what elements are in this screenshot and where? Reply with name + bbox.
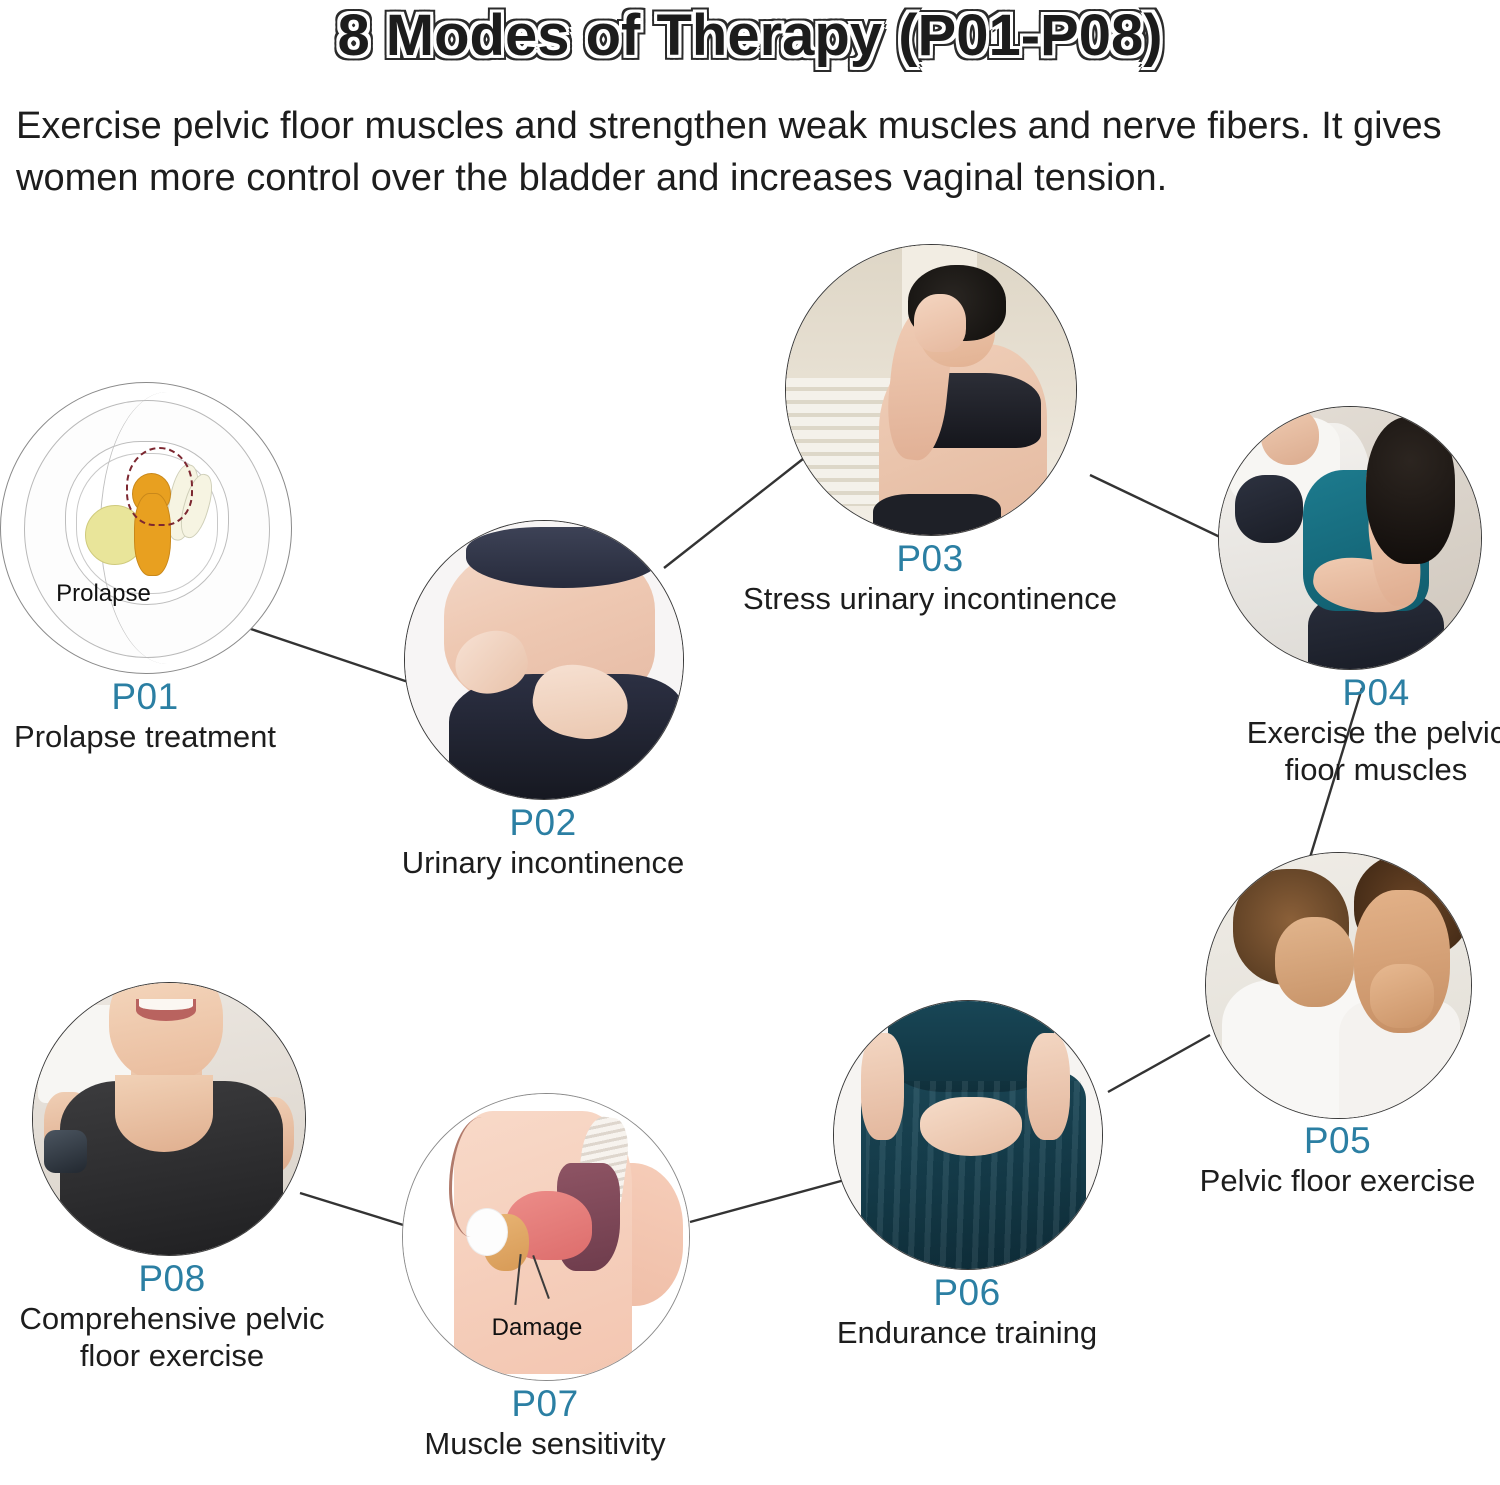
mode-image-p05 xyxy=(1205,852,1472,1119)
p06-clasped-hands xyxy=(920,1097,1022,1156)
p03-hand-on-forehead xyxy=(914,294,966,352)
mode-image-p04 xyxy=(1218,406,1482,670)
mode-image-p01: Prolapse xyxy=(0,382,292,674)
mode-desc-p04: Exercise the pelvic fioor muscles xyxy=(1246,714,1500,788)
p05-baby-face xyxy=(1275,917,1355,1007)
p08-teeth xyxy=(139,999,193,1010)
p02-sports-top xyxy=(466,527,661,588)
mode-caption-p07: P07 Muscle sensitivity xyxy=(364,1383,726,1462)
p03-shorts xyxy=(873,494,1001,536)
damage-image-label: Damage xyxy=(492,1314,583,1342)
mode-code-p01: P01 xyxy=(0,676,318,718)
mode-desc-p01: Prolapse treatment xyxy=(0,718,318,755)
p08-armband-device xyxy=(44,1130,88,1174)
mode-code-p03: P03 xyxy=(705,538,1155,580)
prolapse-dashed-outline xyxy=(126,447,194,526)
p05-baby-hand xyxy=(1370,964,1434,1028)
connector-p05-p06 xyxy=(1108,1035,1210,1092)
mode-desc-p08: Comprehensive pelvic floor exercise xyxy=(12,1300,332,1374)
mode-caption-p01: P01 Prolapse treatment xyxy=(0,676,318,755)
connector-p07-p08 xyxy=(300,1193,413,1228)
mode-desc-p05: Pelvic floor exercise xyxy=(1155,1162,1500,1199)
mode-image-p02 xyxy=(404,520,684,800)
prolapse-image-label: Prolapse xyxy=(56,580,151,608)
mode-code-p04: P04 xyxy=(1246,672,1500,714)
mode-desc-p06: Endurance training xyxy=(793,1314,1141,1351)
mode-code-p06: P06 xyxy=(793,1272,1141,1314)
p08-face xyxy=(109,982,223,1081)
p08-neckline-skin xyxy=(115,1075,213,1151)
p06-right-arm xyxy=(1027,1033,1070,1140)
mode-caption-p04: P04 Exercise the pelvic fioor muscles xyxy=(1246,672,1500,788)
mode-desc-p03: Stress urinary incontinence xyxy=(705,580,1155,617)
p04-hair xyxy=(1366,417,1455,564)
mode-caption-p05: P05 Pelvic floor exercise xyxy=(1155,1120,1500,1199)
mode-code-p07: P07 xyxy=(364,1383,726,1425)
mode-caption-p08: P08 Comprehensive pelvic floor exercise xyxy=(12,1258,332,1374)
mode-image-p08 xyxy=(32,982,306,1256)
connector-p06-p07 xyxy=(690,1178,852,1222)
mode-image-p07: Damage xyxy=(402,1093,690,1381)
p04-background-arm xyxy=(1261,407,1319,465)
p06-left-arm xyxy=(861,1033,904,1140)
mode-desc-p02: Urinary incontinence xyxy=(368,844,718,881)
mode-caption-p06: P06 Endurance training xyxy=(793,1272,1141,1351)
mode-caption-p02: P02 Urinary incontinence xyxy=(368,802,718,881)
mode-code-p08: P08 xyxy=(12,1258,332,1300)
mode-caption-p03: P03 Stress urinary incontinence xyxy=(705,538,1155,617)
mode-image-p03 xyxy=(785,244,1077,536)
p04-background-leg xyxy=(1235,475,1303,543)
mode-code-p02: P02 xyxy=(368,802,718,844)
mode-image-p06 xyxy=(833,1000,1103,1270)
mode-code-p05: P05 xyxy=(1155,1120,1500,1162)
mode-desc-p07: Muscle sensitivity xyxy=(364,1425,726,1462)
